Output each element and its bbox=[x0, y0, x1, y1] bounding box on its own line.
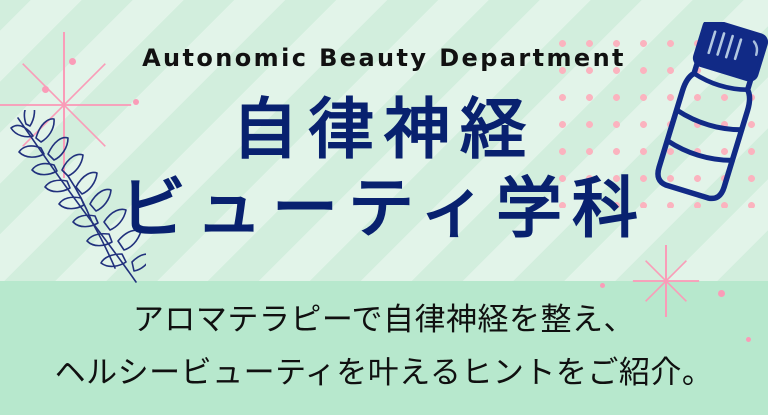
subtitle-line-1: アロマテラピーで自律神経を整え、 bbox=[0, 305, 768, 336]
headline-line-2: ビューティ学科 bbox=[0, 176, 768, 242]
subtitle-line-2: ヘルシービューティを叶えるヒントをご紹介。 bbox=[0, 358, 768, 389]
pink-dot bbox=[746, 337, 751, 342]
pink-dot bbox=[718, 290, 725, 297]
promo-banner: Autonomic Beauty Department 自律神経 ビューティ学科… bbox=[0, 0, 768, 415]
eyebrow-title: Autonomic Beauty Department bbox=[0, 44, 768, 72]
pink-dot bbox=[600, 283, 605, 288]
headline-line-1: 自律神経 bbox=[0, 97, 768, 163]
